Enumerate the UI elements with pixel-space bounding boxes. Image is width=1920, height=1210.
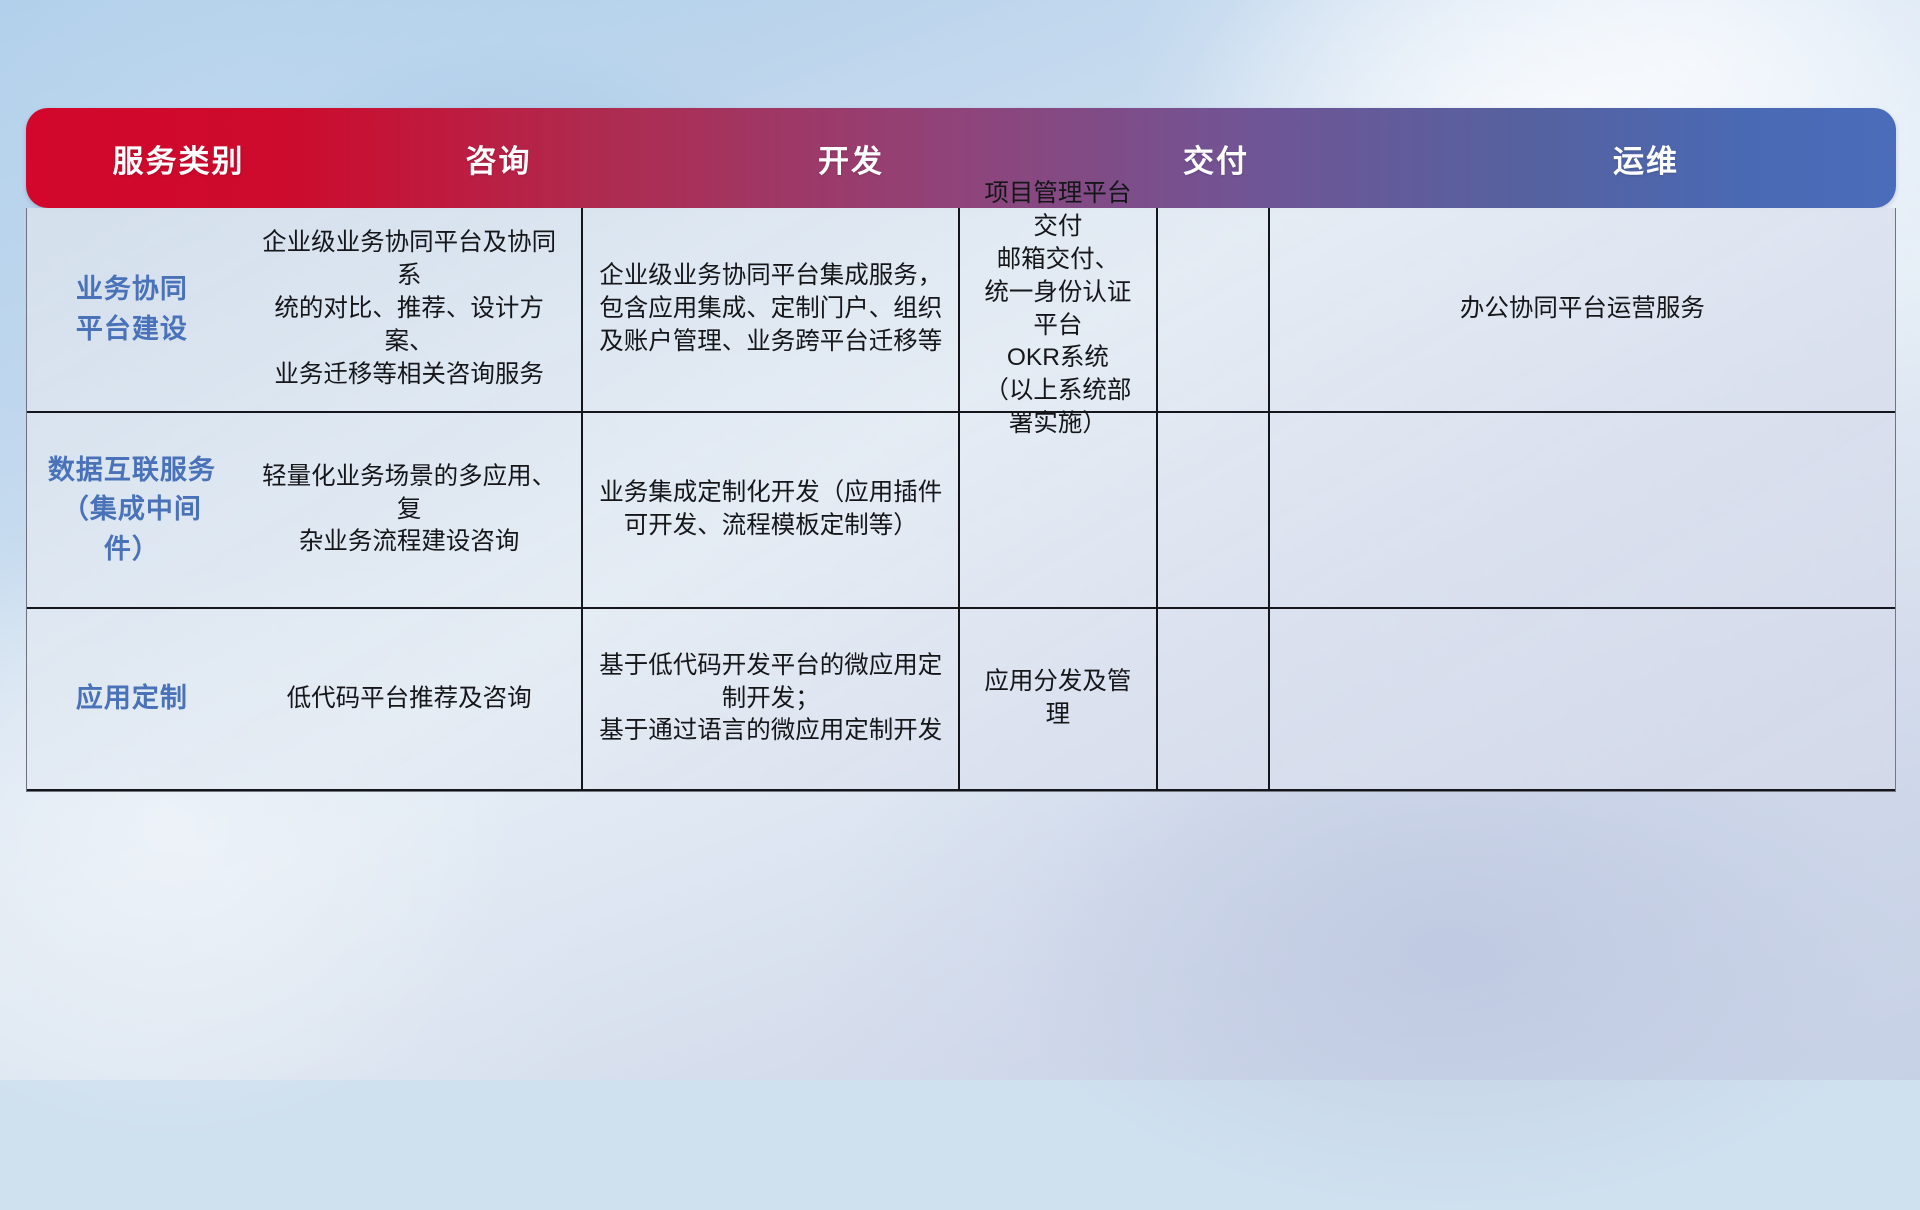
cell-spacer [1158,413,1270,607]
table-row: 应用定制 低代码平台推荐及咨询 基于低代码开发平台的微应用定 制开发； 基于通过… [27,609,1895,791]
cell-development: 业务集成定制化开发（应用插件 可开发、流程模板定制等） [583,413,960,607]
cell-development: 企业级业务协同平台集成服务， 包含应用集成、定制门户、组织 及账户管理、业务跨平… [583,208,960,411]
column-header-category: 服务类别 [26,108,331,208]
service-matrix-table: 服务类别 咨询 开发 交付 运维 业务协同 平台建设 企业级业务协同平台及协同系… [26,108,1896,792]
table-header-row: 服务类别 咨询 开发 交付 运维 [26,108,1896,208]
cell-operations [1270,609,1895,789]
cell-delivery: 应用分发及管理 [960,609,1158,789]
cell-spacer [1158,208,1270,411]
cell-spacer [1158,609,1270,789]
cell-operations: 办公协同平台运营服务 [1270,208,1895,411]
table-row: 数据互联服务 （集成中间件） 轻量化业务场景的多应用、复 杂业务流程建设咨询 业… [27,413,1895,609]
table-row: 业务协同 平台建设 企业级业务协同平台及协同系 统的对比、推荐、设计方案、 业务… [27,208,1895,413]
table-body: 业务协同 平台建设 企业级业务协同平台及协同系 统的对比、推荐、设计方案、 业务… [26,208,1896,792]
cell-consulting: 低代码平台推荐及咨询 [237,609,584,789]
row-category-label: 业务协同 平台建设 [27,208,237,411]
cell-operations [1270,413,1895,607]
row-category-label: 数据互联服务 （集成中间件） [27,413,237,607]
cell-delivery [960,413,1158,607]
cell-delivery: 项目管理平台交付 邮箱交付、 统一身份认证平台 OKR系统 （以上系统部署实施） [960,208,1158,411]
cell-consulting: 轻量化业务场景的多应用、复 杂业务流程建设咨询 [237,413,584,607]
column-header-operations: 运维 [1396,108,1896,208]
cell-consulting: 企业级业务协同平台及协同系 统的对比、推荐、设计方案、 业务迁移等相关咨询服务 [237,208,584,411]
cell-development: 基于低代码开发平台的微应用定 制开发； 基于通过语言的微应用定制开发 [583,609,960,789]
slide-canvas: 服务类别 咨询 开发 交付 运维 业务协同 平台建设 企业级业务协同平台及协同系… [0,0,1920,1080]
row-category-label: 应用定制 [27,609,237,789]
column-header-consulting: 咨询 [331,108,666,208]
